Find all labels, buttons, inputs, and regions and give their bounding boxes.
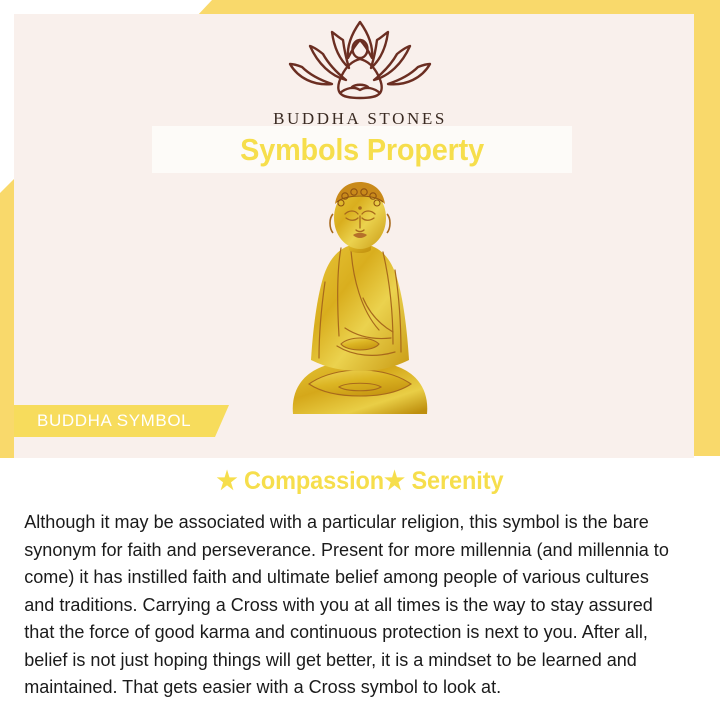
page-title: Symbols Property	[240, 132, 484, 168]
hero-tag-banner: BUDDHA SYMBOL	[14, 405, 229, 437]
seated-golden-buddha-illustration	[275, 178, 445, 414]
poster-root: BUDDHA STONES Symbols Property	[0, 0, 720, 720]
brand-logo: BUDDHA STONES	[0, 16, 720, 129]
content-panel: ★ Compassion★ Serenity Although it may b…	[0, 458, 720, 720]
title-band: Symbols Property	[152, 126, 572, 173]
content-subtitle: ★ Compassion★ Serenity	[22, 458, 699, 496]
hero-tag-label: BUDDHA SYMBOL	[14, 411, 191, 431]
content-body: Although it may be associated with a par…	[0, 496, 698, 701]
lotus-meditation-icon	[0, 16, 720, 107]
